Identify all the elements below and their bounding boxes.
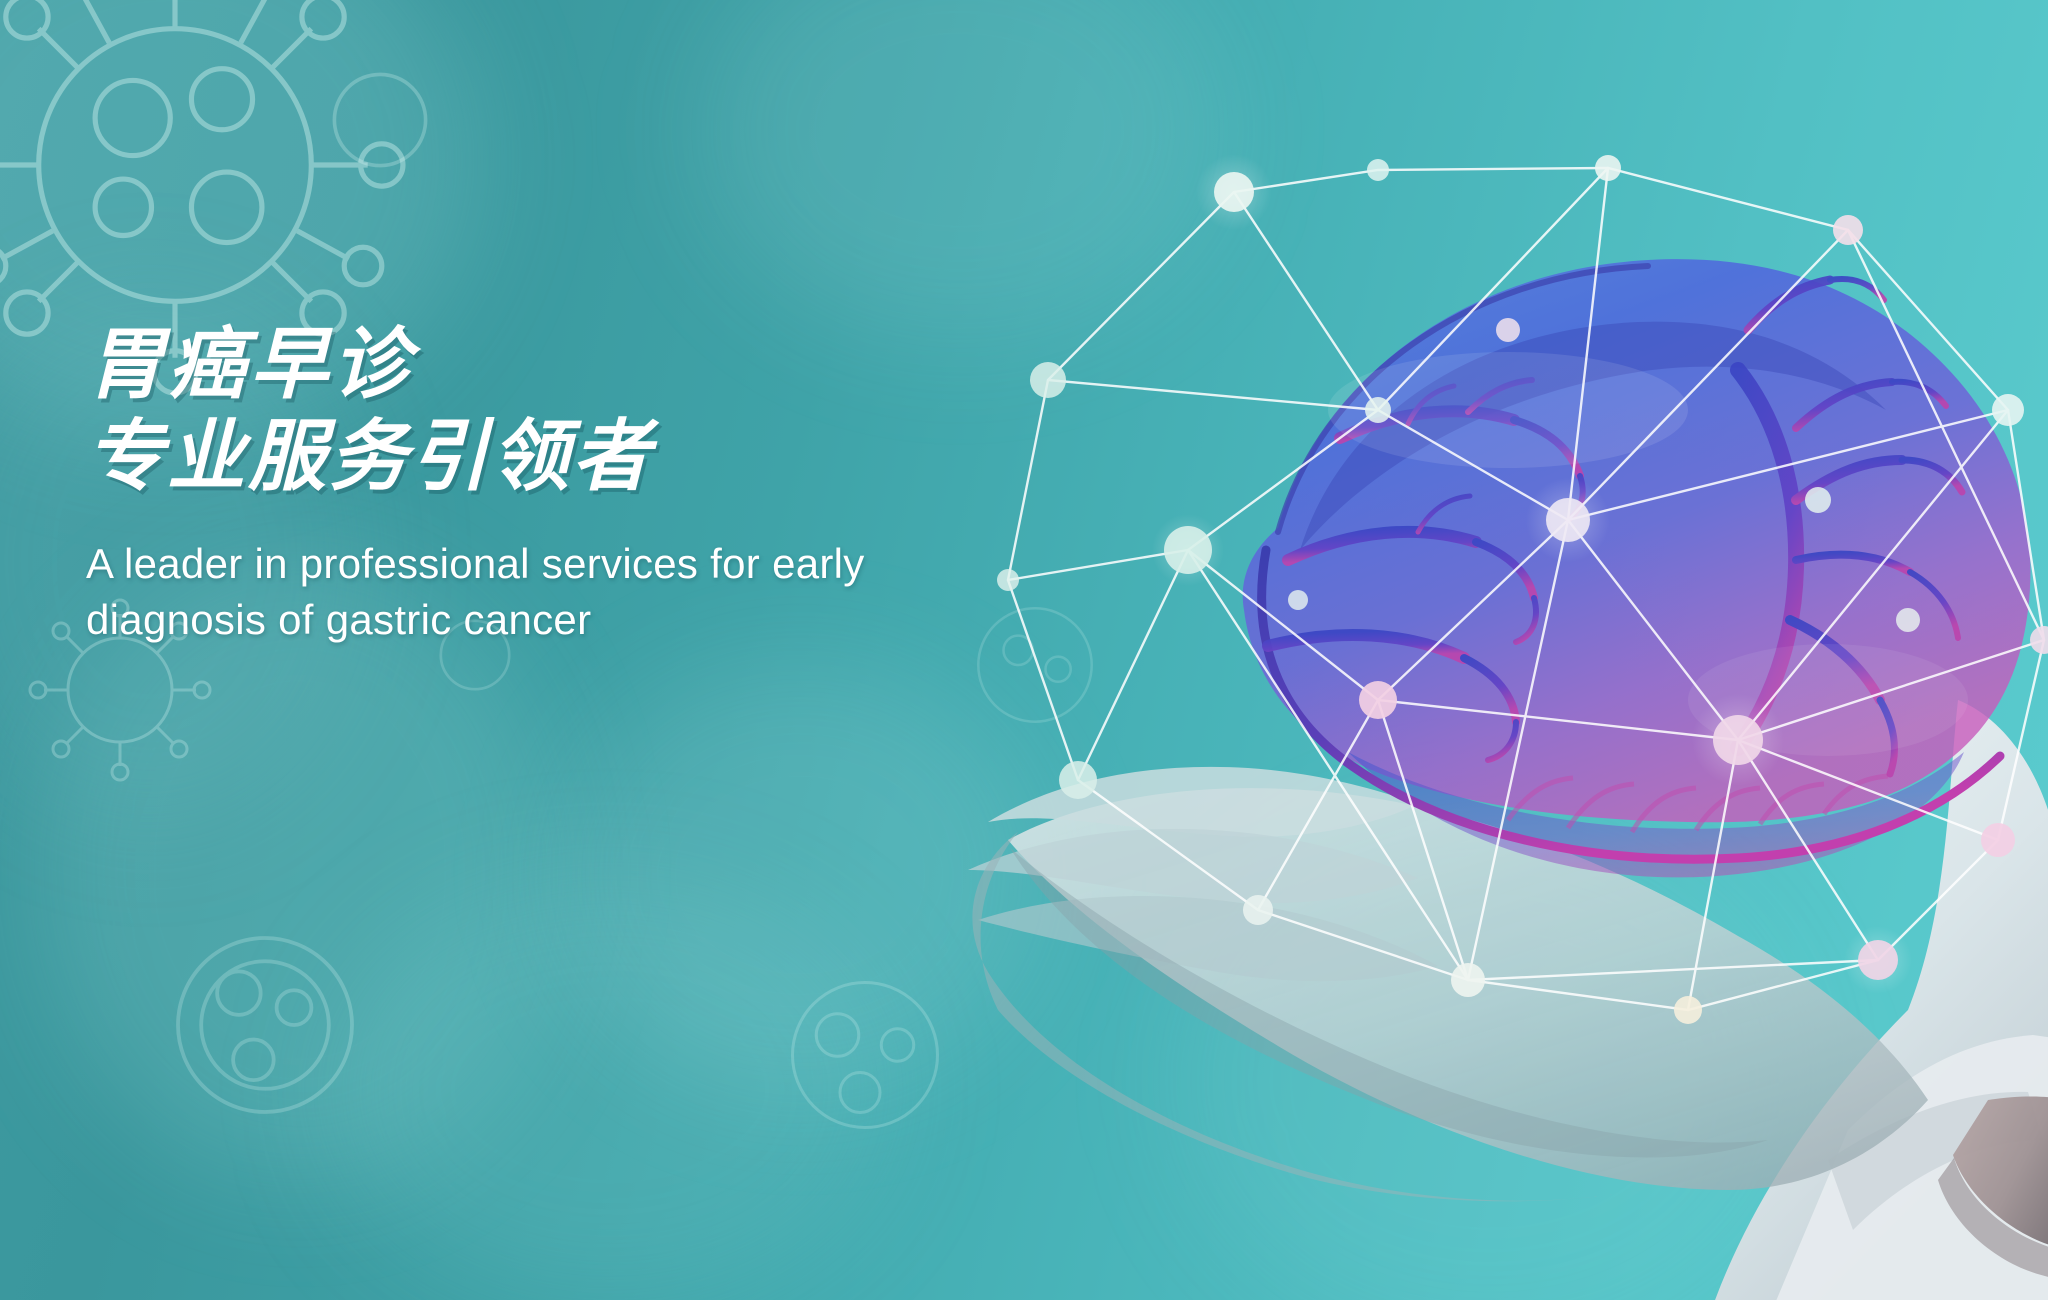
network-node [1981,823,2015,857]
network-node [1805,487,1831,513]
network-node [1992,394,2024,426]
network-node [1365,397,1391,423]
network-node [1451,963,1485,997]
hero-banner: 胃癌早诊 专业服务引领者 A leader in professional se… [0,0,2048,1300]
network-node [1496,318,1520,342]
network-node [1214,172,1254,212]
network-node [1243,895,1273,925]
hero-copy: 胃癌早诊 专业服务引领者 A leader in professional se… [86,318,966,648]
network-node [1858,940,1898,980]
headline-line-2: 专业服务引领者 [86,410,966,502]
network-node [1674,996,1702,1024]
network-node [1164,526,1212,574]
virus-icon [120,880,410,1170]
network-node [997,569,1019,591]
network-node [1359,681,1397,719]
network-node [1833,215,1863,245]
subtitle-line-1: A leader in professional services for ea… [86,536,966,592]
network-node [1030,362,1066,398]
subtitle-line-2: diagnosis of gastric cancer [86,592,966,648]
network-node [1059,761,1097,799]
stomach-hologram [1243,259,2031,877]
bubble-icon [320,60,440,180]
network-node [1367,159,1389,181]
network-node [1288,590,1308,610]
network-node [1595,155,1621,181]
headline-line-1: 胃癌早诊 [86,318,966,410]
network-node [1896,608,1920,632]
network-node [1713,715,1763,765]
stomach-hologram-illustration [948,80,2048,1300]
bg-blob-3 [330,880,890,1300]
bg-blob-2 [40,560,560,1180]
network-node [1546,498,1590,542]
network-node [2030,626,2048,654]
